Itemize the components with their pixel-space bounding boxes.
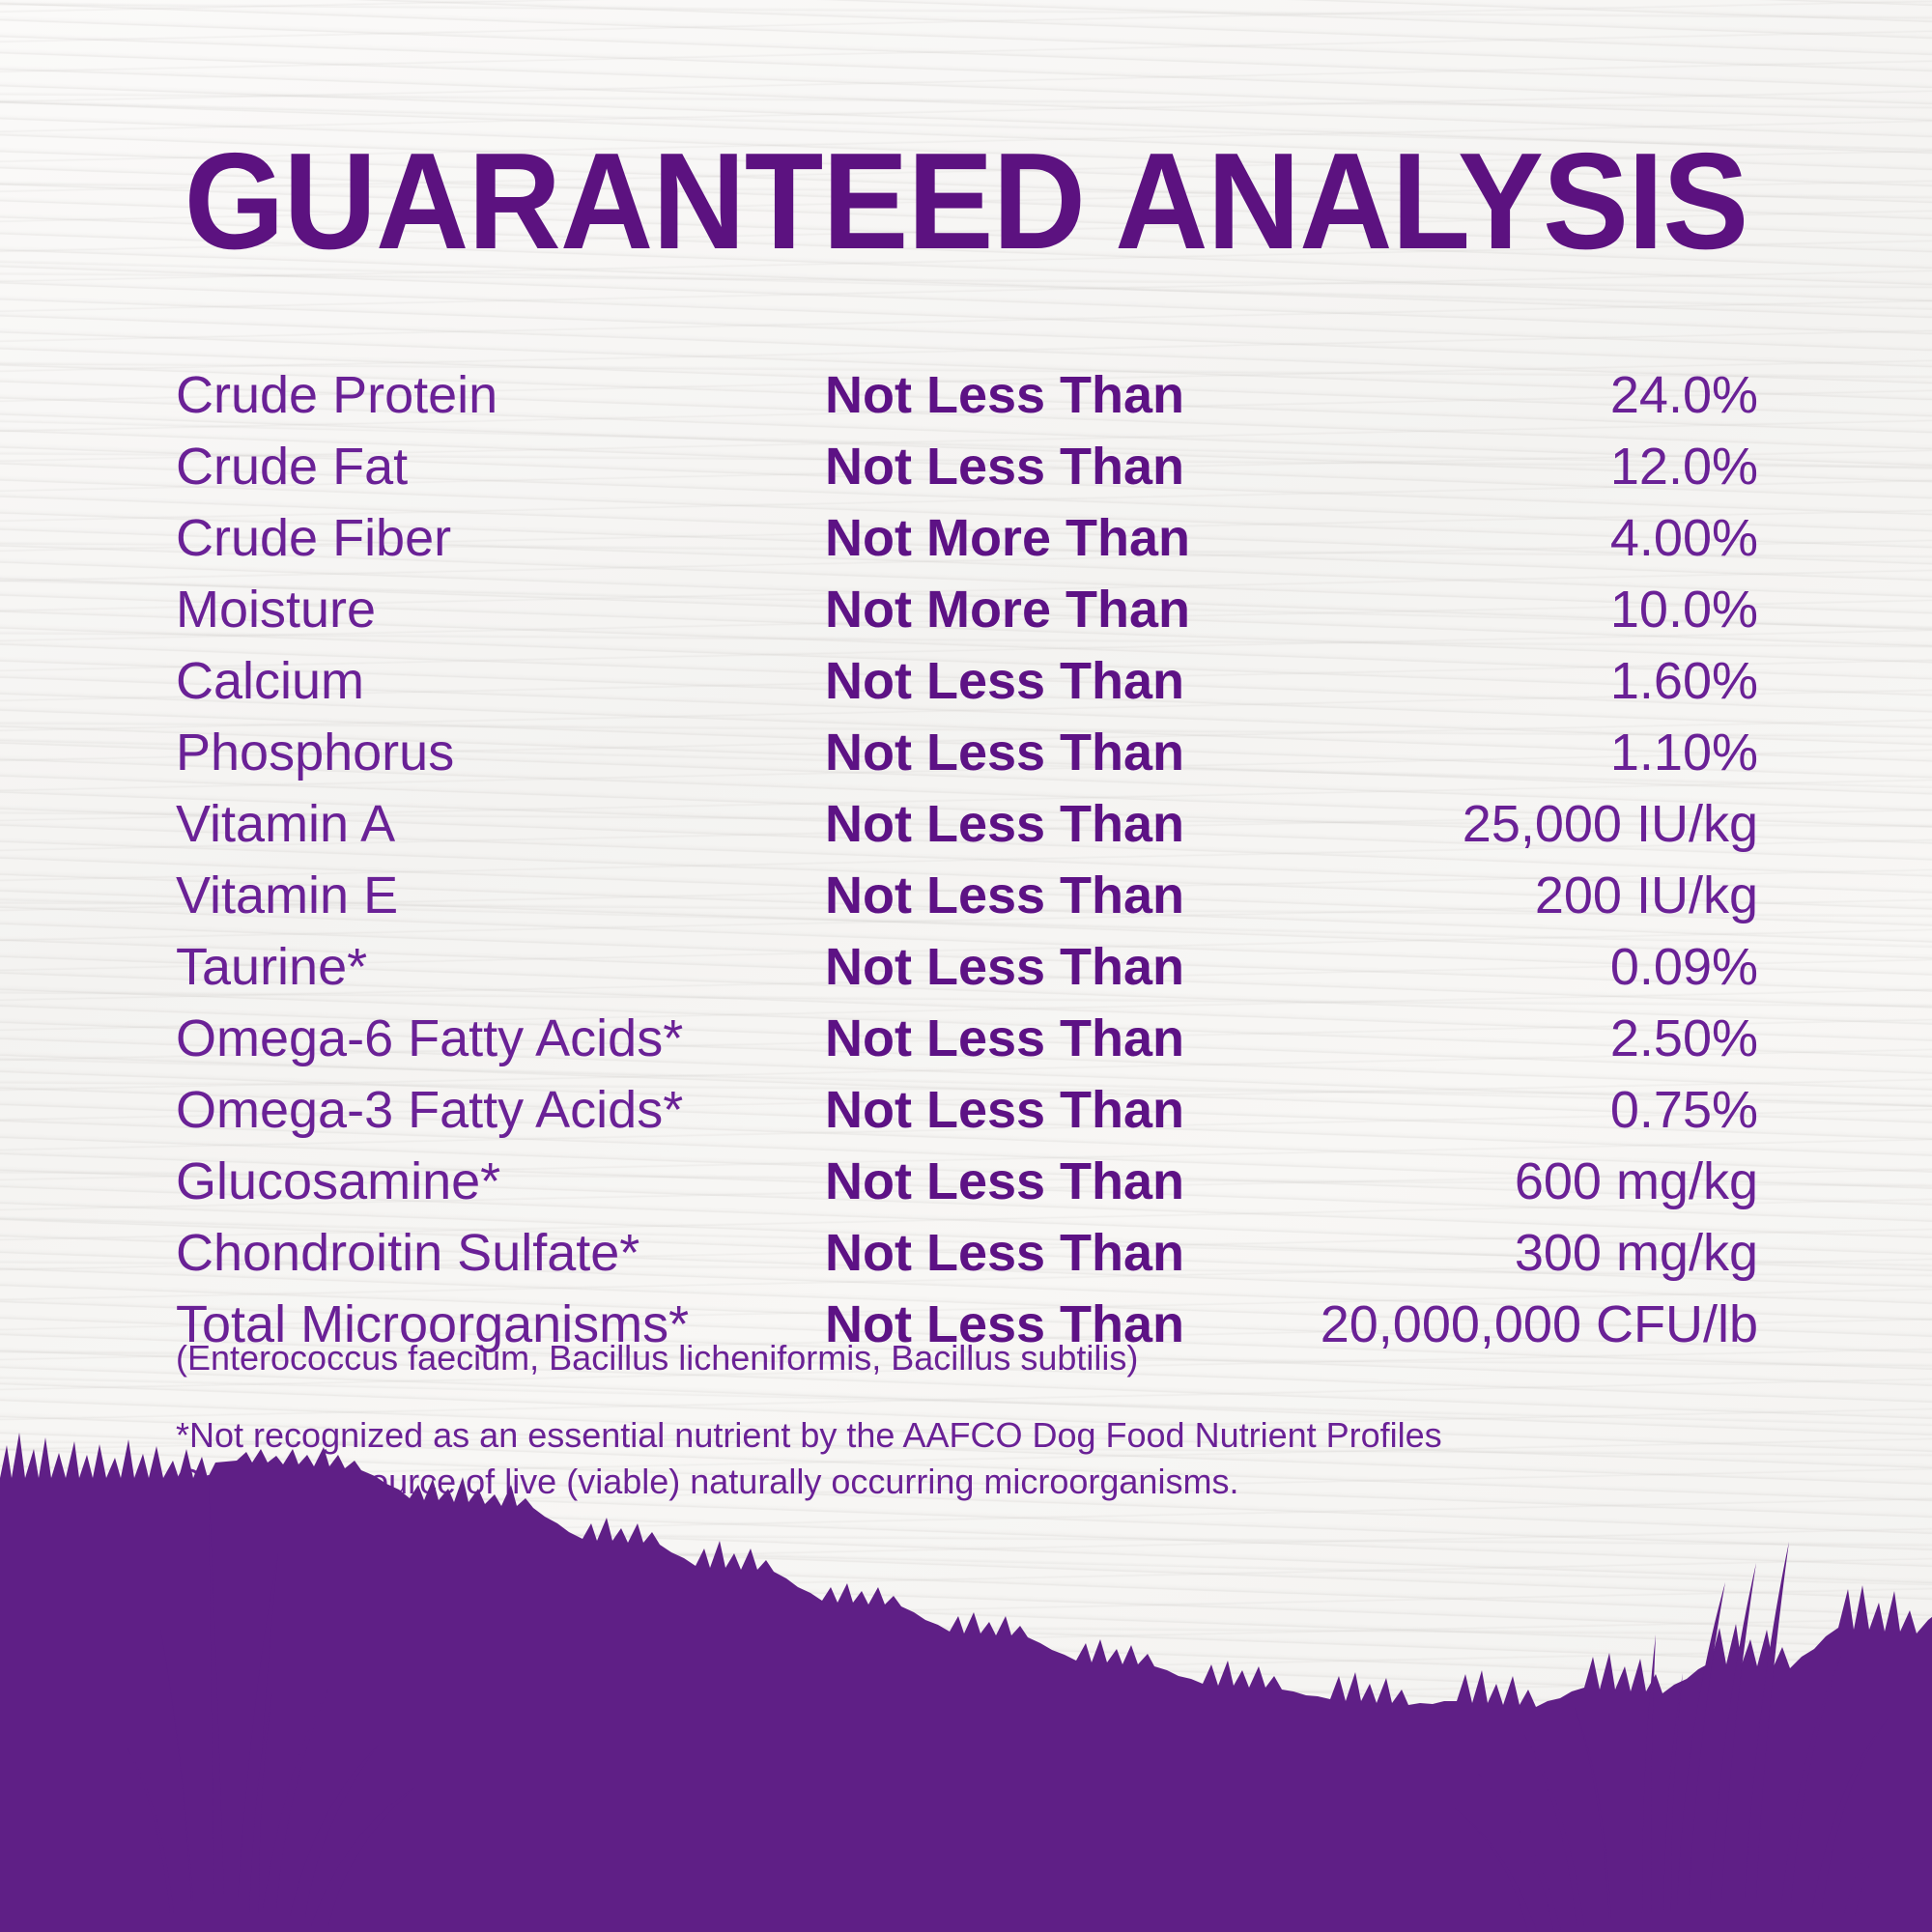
nutrient-qualifier: Not Less Than (825, 717, 1184, 788)
nutrient-value: 10.0% (1610, 574, 1758, 645)
nutrient-label: Crude Protein (176, 359, 497, 431)
nutrient-qualifier: Not Less Than (825, 860, 1184, 931)
nutrient-qualifier: Not Less Than (825, 1217, 1184, 1289)
nutrient-label: Moisture (176, 574, 376, 645)
table-row: Crude FatNot Less Than12.0% (176, 431, 1758, 502)
nutrient-label: Vitamin E (176, 860, 398, 931)
nutrient-label: Glucosamine* (176, 1146, 500, 1217)
nutrient-qualifier: Not Less Than (825, 788, 1184, 860)
nutrient-value: 1.10% (1610, 717, 1758, 788)
nutrient-value: 0.09% (1610, 931, 1758, 1003)
nutrient-value: 24.0% (1610, 359, 1758, 431)
nutrient-label: Crude Fiber (176, 502, 451, 574)
nutrient-qualifier: Not Less Than (825, 1003, 1184, 1074)
nutrient-value: 1.60% (1610, 645, 1758, 717)
guaranteed-analysis-panel: GUARANTEED ANALYSIS Crude ProteinNot Les… (0, 0, 1932, 1932)
nutrient-qualifier: Not More Than (825, 574, 1190, 645)
nutrient-qualifier: Not Less Than (825, 359, 1184, 431)
nutrient-qualifier: Not Less Than (825, 1146, 1184, 1217)
nutrient-qualifier: Not Less Than (825, 645, 1184, 717)
nutrient-label: Omega-6 Fatty Acids* (176, 1003, 683, 1074)
table-row: Omega-6 Fatty Acids*Not Less Than2.50% (176, 1003, 1758, 1074)
nutrient-value: 0.75% (1610, 1074, 1758, 1146)
guaranteed-analysis-table: Crude ProteinNot Less Than24.0%Crude Fat… (176, 359, 1758, 1360)
nutrient-label: Vitamin A (176, 788, 395, 860)
nutrient-qualifier: Not Less Than (825, 1074, 1184, 1146)
nutrient-value: 300 mg/kg (1515, 1217, 1758, 1289)
table-row: Vitamin ANot Less Than25,000 IU/kg (176, 788, 1758, 860)
nutrient-label: Chondroitin Sulfate* (176, 1217, 639, 1289)
grass-silhouette (0, 1333, 1932, 1932)
table-row: Glucosamine*Not Less Than600 mg/kg (176, 1146, 1758, 1217)
nutrient-label: Taurine* (176, 931, 367, 1003)
table-row: CalciumNot Less Than1.60% (176, 645, 1758, 717)
nutrient-value: 12.0% (1610, 431, 1758, 502)
nutrient-qualifier: Not Less Than (825, 931, 1184, 1003)
table-row: Crude FiberNot More Than4.00% (176, 502, 1758, 574)
nutrient-value: 2.50% (1610, 1003, 1758, 1074)
nutrient-value: 25,000 IU/kg (1463, 788, 1758, 860)
page-title: GUARANTEED ANALYSIS (58, 133, 1874, 270)
table-row: Vitamin ENot Less Than200 IU/kg (176, 860, 1758, 931)
table-row: PhosphorusNot Less Than1.10% (176, 717, 1758, 788)
nutrient-qualifier: Not More Than (825, 502, 1190, 574)
nutrient-qualifier: Not Less Than (825, 431, 1184, 502)
nutrient-label: Crude Fat (176, 431, 408, 502)
table-row: Omega-3 Fatty Acids*Not Less Than0.75% (176, 1074, 1758, 1146)
nutrient-label: Calcium (176, 645, 364, 717)
nutrient-value: 4.00% (1610, 502, 1758, 574)
table-row: Crude ProteinNot Less Than24.0% (176, 359, 1758, 431)
nutrient-value: 600 mg/kg (1515, 1146, 1758, 1217)
nutrient-label: Omega-3 Fatty Acids* (176, 1074, 683, 1146)
nutrient-value: 200 IU/kg (1535, 860, 1758, 931)
table-row: MoistureNot More Than10.0% (176, 574, 1758, 645)
nutrient-label: Phosphorus (176, 717, 454, 788)
table-row: Taurine*Not Less Than0.09% (176, 931, 1758, 1003)
table-row: Chondroitin Sulfate*Not Less Than300 mg/… (176, 1217, 1758, 1289)
